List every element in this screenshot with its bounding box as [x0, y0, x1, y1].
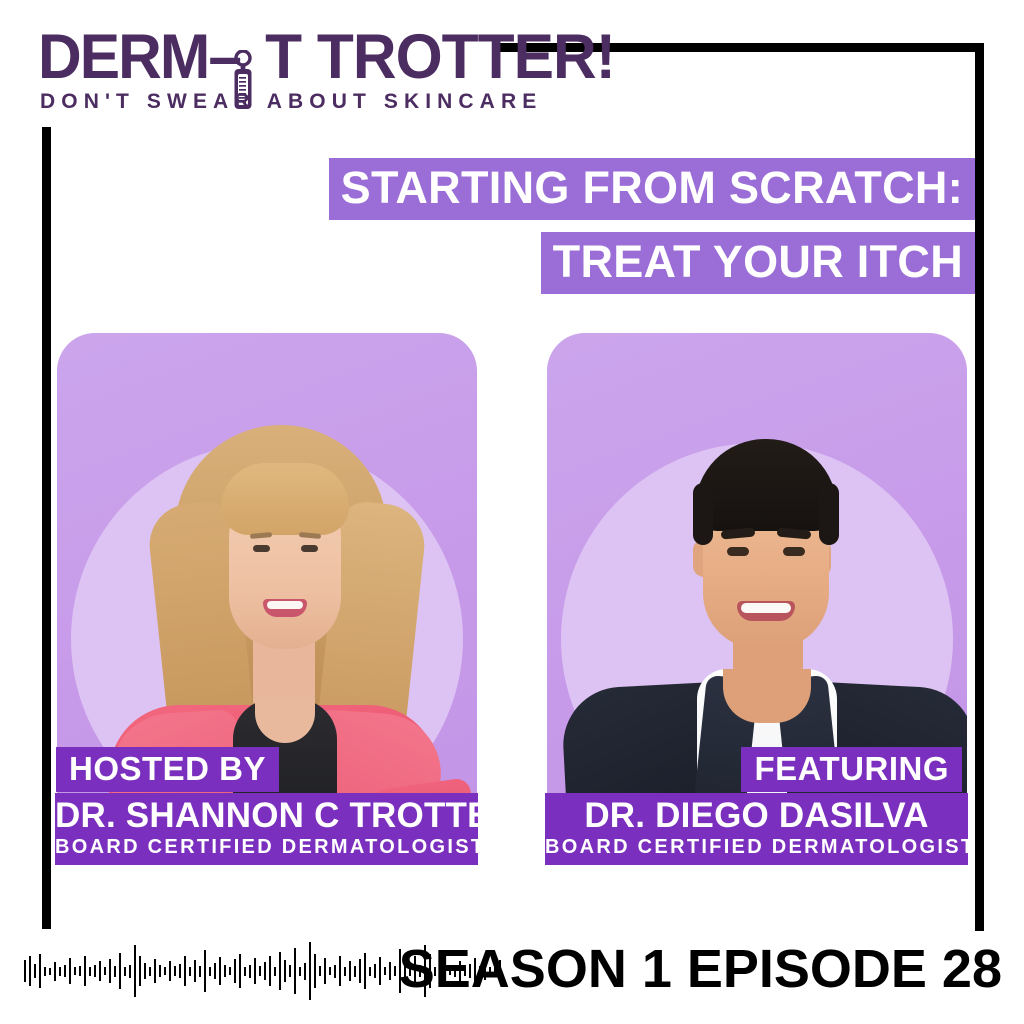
waveform-bar [314, 954, 316, 988]
waveform-bar [369, 967, 371, 976]
waveform-bar [249, 965, 251, 978]
waveform-bar [349, 961, 351, 981]
guest-role-label: FEATURING [741, 747, 962, 792]
waveform-bar [214, 963, 216, 979]
waveform-bar [174, 966, 176, 976]
waveform-bar [194, 960, 196, 982]
podcast-episode-poster: DERM–T TROTTER! DON'T SWEAR ABOUT SKINCA… [0, 0, 1024, 1024]
waveform-bar [189, 967, 191, 976]
brand-logo: DERM–T TROTTER! DON'T SWEAR ABOUT SKINCA… [38, 26, 488, 118]
waveform-bar [84, 956, 86, 986]
waveform-bar [139, 956, 141, 986]
waveform-bar [389, 962, 391, 980]
guest-name: DR. DIEGO DASILVA [545, 797, 968, 835]
waveform-bar [39, 954, 41, 988]
waveform-bar [184, 956, 186, 986]
waveform-bar [374, 964, 376, 978]
waveform-bar [169, 961, 171, 981]
brand-wordmark-part1: DERM– [38, 22, 240, 92]
waveform-bar [99, 961, 101, 981]
waveform-bar [129, 965, 131, 978]
waveform-bar [44, 967, 46, 976]
waveform-bar [29, 956, 31, 986]
waveform-bar [94, 965, 96, 977]
waveform-bar [239, 954, 241, 988]
guest-nameplate: DR. DIEGO DASILVA BOARD CERTIFIED DERMAT… [545, 793, 968, 865]
guest-credential: BOARD CERTIFIED DERMATOLOGIST [545, 835, 968, 859]
waveform-bar [89, 967, 91, 976]
waveform-bar [324, 958, 326, 984]
host-nameplate: DR. SHANNON C TROTTER BOARD CERTIFIED DE… [55, 793, 478, 865]
host-name: DR. SHANNON C TROTTER [55, 797, 478, 835]
waveform-bar [144, 963, 146, 979]
waveform-bar [34, 964, 36, 978]
waveform-bar [164, 967, 166, 975]
audio-waveform-icon [24, 940, 416, 1002]
waveform-bar [279, 952, 281, 990]
waveform-bar [269, 956, 271, 986]
waveform-bar [119, 953, 121, 989]
waveform-bar [364, 953, 366, 989]
host-role-label: HOSTED BY [56, 747, 279, 792]
waveform-bar [199, 966, 201, 977]
waveform-bar [109, 959, 111, 983]
waveform-bar [74, 967, 76, 975]
waveform-bar [259, 966, 261, 976]
waveform-bar [354, 966, 356, 977]
episode-title-line-2: TREAT YOUR ITCH [541, 232, 975, 294]
waveform-bar [244, 967, 246, 976]
brand-wordmark-part2: T TROTTER! [265, 22, 615, 92]
waveform-bar [124, 967, 126, 976]
waveform-bar [224, 965, 226, 977]
waveform-bar [179, 964, 181, 978]
waveform-bar [64, 965, 66, 977]
waveform-bar [209, 967, 211, 976]
waveform-bar [284, 960, 286, 982]
waveform-bar [59, 967, 61, 976]
waveform-bar [154, 959, 156, 983]
waveform-bar [24, 960, 26, 982]
waveform-bar [304, 963, 306, 980]
waveform-bar [319, 966, 321, 976]
waveform-bar [294, 948, 296, 994]
waveform-bar [329, 967, 331, 975]
brand-tagline: DON'T SWEAR ABOUT SKINCARE [40, 90, 542, 114]
waveform-bar [234, 959, 236, 983]
host-credential: BOARD CERTIFIED DERMATOLOGIST [55, 835, 478, 859]
episode-title-line-1: STARTING FROM SCRATCH: [329, 158, 975, 220]
waveform-bar [104, 967, 106, 975]
season-episode-label: SEASON 1 EPISODE 28 [399, 938, 1002, 1000]
waveform-bar [254, 958, 256, 984]
waveform-bar [134, 945, 136, 997]
waveform-bar [299, 967, 301, 976]
waveform-bar [339, 956, 341, 986]
waveform-bar [394, 966, 396, 976]
waveform-bar [159, 965, 161, 977]
waveform-bar [344, 967, 346, 976]
waveform-bar [274, 967, 276, 976]
waveform-bar [79, 966, 81, 976]
waveform-bar [69, 958, 71, 984]
waveform-bar [204, 950, 206, 992]
waveform-bar [334, 965, 336, 978]
waveform-bar [219, 957, 221, 985]
waveform-bar [149, 967, 151, 976]
waveform-bar [359, 959, 361, 983]
waveform-bar [309, 942, 311, 1000]
waveform-bar [54, 962, 56, 981]
waveform-bar [289, 965, 291, 977]
episode-title: STARTING FROM SCRATCH: TREAT YOUR ITCH [0, 158, 975, 294]
waveform-bar [229, 967, 231, 975]
waveform-bar [264, 962, 266, 980]
waveform-bar [114, 966, 116, 977]
waveform-bar [379, 957, 381, 985]
frame-rule-right [975, 43, 984, 931]
waveform-bar [49, 968, 51, 975]
waveform-bar [384, 967, 386, 975]
